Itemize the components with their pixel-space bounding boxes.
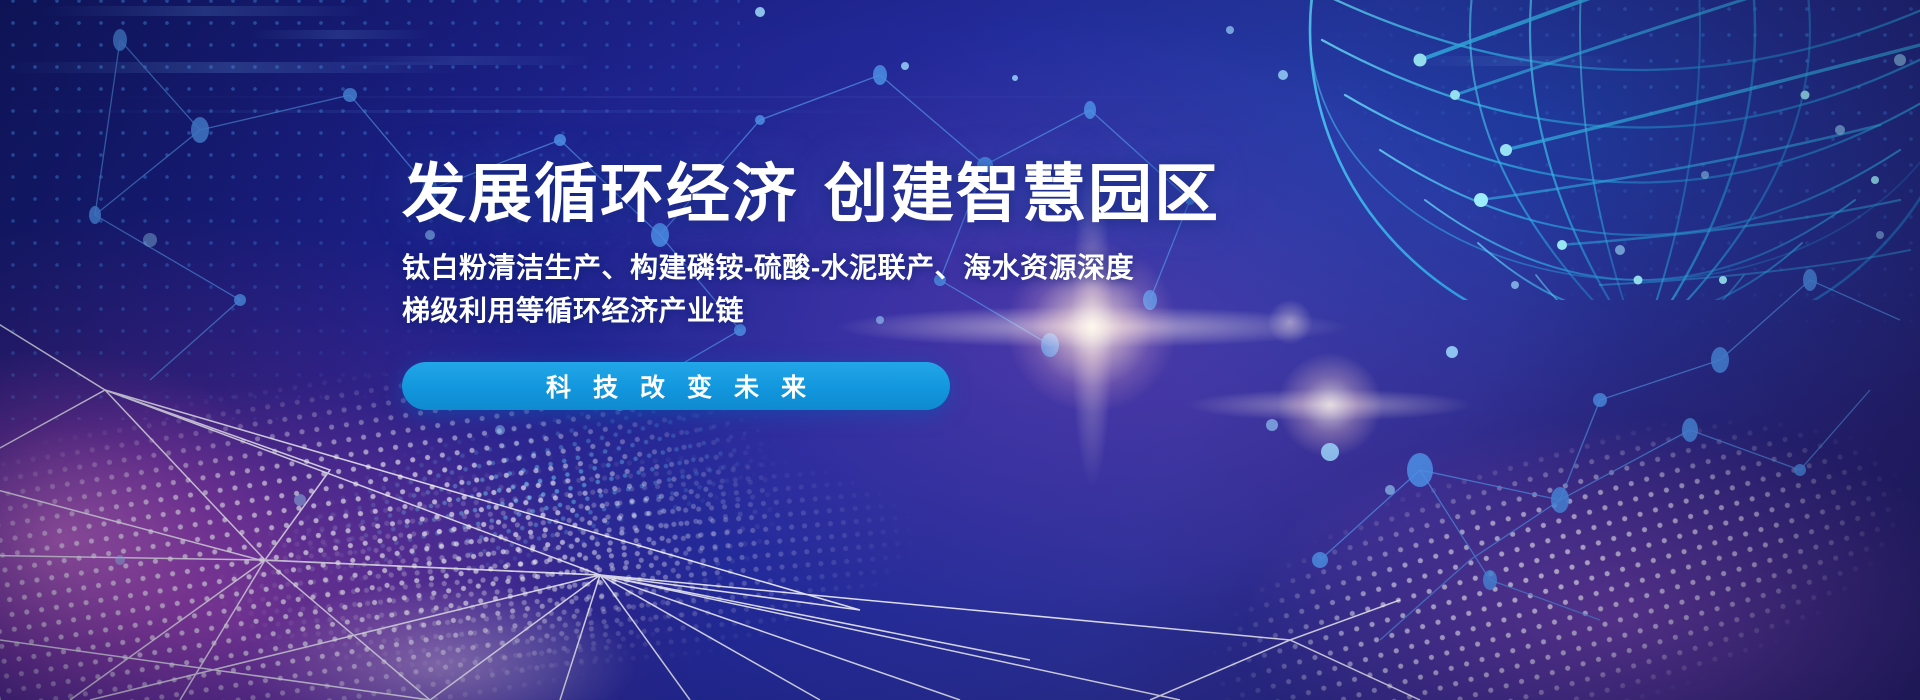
subtitle-line-2: 梯级利用等循环经济产业链 — [402, 295, 744, 326]
hero-banner: 发展循环经济创建智慧园区 钛白粉清洁生产、构建磷铵-硫酸-水泥联产、海水资源深度… — [0, 0, 1920, 700]
banner-copy: 发展循环经济创建智慧园区 钛白粉清洁生产、构建磷铵-硫酸-水泥联产、海水资源深度… — [402, 160, 1402, 410]
halftone-wave-icon — [128, 387, 1152, 700]
headline-part-2: 创建智慧园区 — [824, 158, 1220, 230]
banner-subtitle: 钛白粉清洁生产、构建磷铵-硫酸-水泥联产、海水资源深度梯级利用等循环经济产业链 — [402, 247, 1172, 332]
subtitle-line-1: 钛白粉清洁生产、构建磷铵-硫酸-水泥联产、海水资源深度 — [402, 252, 1134, 283]
headline-part-1: 发展循环经济 — [402, 158, 798, 230]
cta-button[interactable]: 科技改变未来 — [402, 362, 950, 410]
page-title: 发展循环经济创建智慧园区 — [402, 160, 1402, 229]
cta-button-label: 科技改变未来 — [524, 368, 828, 404]
